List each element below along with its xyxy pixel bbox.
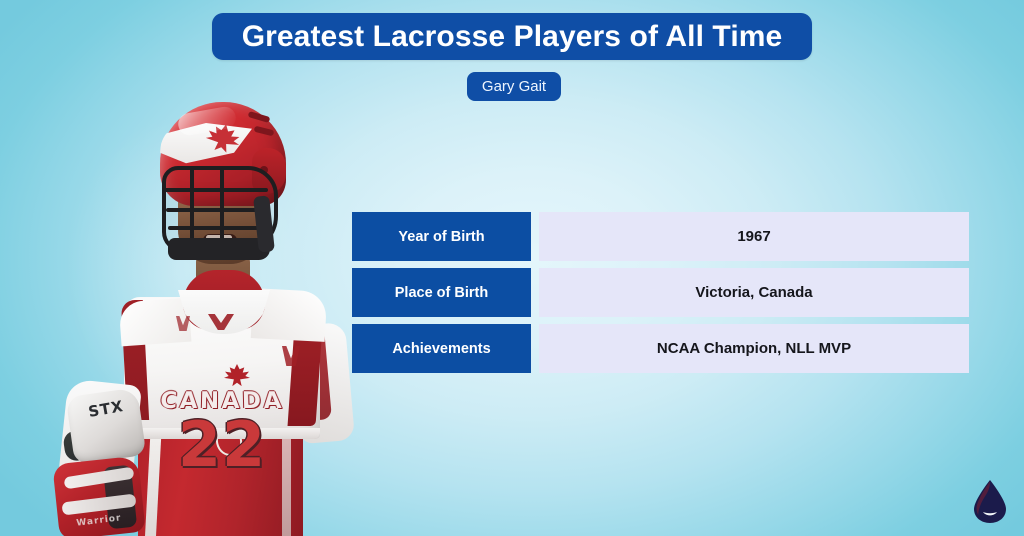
row-value: Victoria, Canada xyxy=(539,268,969,317)
water-drop-icon xyxy=(970,478,1010,524)
row-label: Achievements xyxy=(352,324,531,373)
water-drop-logo xyxy=(970,478,1010,524)
chin-guard xyxy=(168,238,270,260)
player-info-table: Year of Birth 1967 Place of Birth Victor… xyxy=(352,212,969,373)
title-badge: Greatest Lacrosse Players of All Time xyxy=(212,13,812,60)
table-row: Achievements NCAA Champion, NLL MVP xyxy=(352,324,969,373)
table-row: Place of Birth Victoria, Canada xyxy=(352,268,969,317)
cell-gap xyxy=(531,268,539,317)
facemask-bar xyxy=(168,226,264,230)
jersey-number: 22 xyxy=(150,414,294,476)
row-label: Place of Birth xyxy=(352,268,531,317)
facemask-bar-vertical xyxy=(220,166,224,240)
facemask-bar-vertical xyxy=(190,168,194,240)
player-name: Gary Gait xyxy=(482,78,546,95)
slide-canvas: CANADA 22 STX Warri xyxy=(0,0,1024,536)
player-photo: CANADA 22 STX Warri xyxy=(20,92,350,536)
cell-gap xyxy=(531,212,539,261)
page-title: Greatest Lacrosse Players of All Time xyxy=(242,20,783,54)
subtitle-badge: Gary Gait xyxy=(467,72,561,101)
facemask-bar xyxy=(166,208,266,212)
facemask-bar xyxy=(164,188,268,192)
row-value: NCAA Champion, NLL MVP xyxy=(539,324,969,373)
cell-gap xyxy=(531,324,539,373)
row-label: Year of Birth xyxy=(352,212,531,261)
row-value: 1967 xyxy=(539,212,969,261)
table-row: Year of Birth 1967 xyxy=(352,212,969,261)
